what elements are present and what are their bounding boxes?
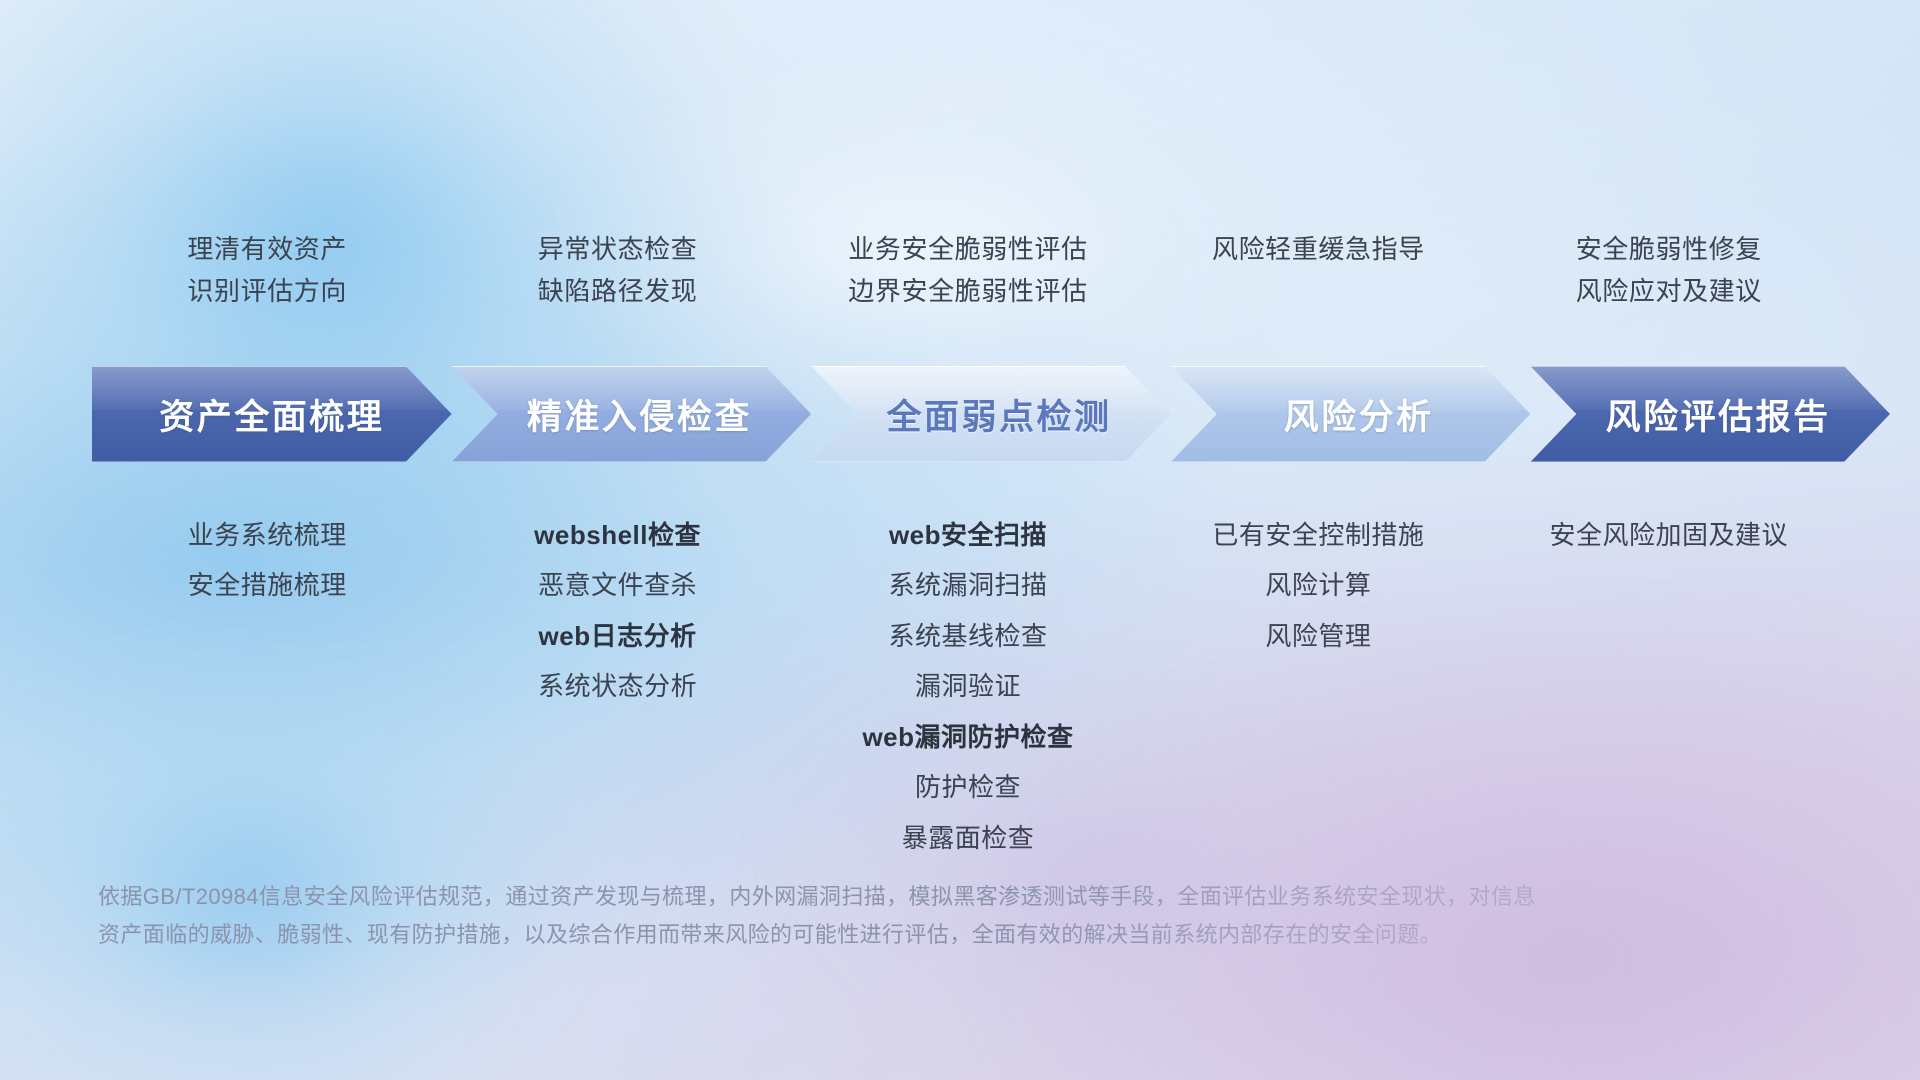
- top-note-line: 安全脆弱性修复: [1494, 228, 1844, 270]
- bottom-note-cell-risk-analysis: 已有安全控制措施风险计算风险管理: [1143, 510, 1493, 863]
- top-notes-row: 理清有效资产识别评估方向异常状态检查缺陷路径发现业务安全脆弱性评估边界安全脆弱性…: [92, 228, 1844, 312]
- top-note-line: 理清有效资产: [92, 228, 442, 270]
- process-stage-asset-inventory[interactable]: 资产全面梳理: [92, 366, 452, 462]
- footer-description: 依据GB/T20984信息安全风险评估规范，通过资产发现与梳理，内外网漏洞扫描，…: [98, 878, 1628, 954]
- process-stage-intrusion-check[interactable]: 精准入侵检查: [452, 366, 812, 462]
- bottom-notes-row: 业务系统梳理安全措施梳理webshell检查恶意文件查杀web日志分析系统状态分…: [92, 510, 1844, 863]
- bottom-note-line: 暴露面检查: [793, 813, 1143, 863]
- bottom-note-line: 风险管理: [1143, 611, 1493, 661]
- bottom-note-line: web漏洞防护检查: [793, 712, 1143, 762]
- stage-title: 风险评估报告: [1606, 389, 1831, 440]
- bottom-note-line: 防护检查: [793, 762, 1143, 812]
- bottom-note-cell-intrusion-check: webshell检查恶意文件查杀web日志分析系统状态分析: [442, 510, 792, 863]
- bottom-note-line: 系统状态分析: [442, 661, 792, 711]
- bottom-note-line: 安全风险加固及建议: [1494, 510, 1844, 560]
- top-note-cell-assessment-report: 安全脆弱性修复风险应对及建议: [1494, 228, 1844, 312]
- stage-title: 资产全面梳理: [159, 389, 384, 440]
- bottom-note-line: 安全措施梳理: [92, 560, 442, 610]
- top-note-cell-asset-inventory: 理清有效资产识别评估方向: [92, 228, 442, 312]
- stage-title: 全面弱点检测: [886, 389, 1111, 440]
- top-note-line: 边界安全脆弱性评估: [793, 270, 1143, 312]
- top-note-line: 风险应对及建议: [1494, 270, 1844, 312]
- bottom-note-line: webshell检查: [442, 510, 792, 560]
- top-note-line: 风险轻重缓急指导: [1143, 228, 1493, 270]
- bottom-note-cell-asset-inventory: 业务系统梳理安全措施梳理: [92, 510, 442, 863]
- process-stage-weakness-detection[interactable]: 全面弱点检测: [811, 366, 1171, 462]
- bottom-note-line: 风险计算: [1143, 560, 1493, 610]
- bottom-note-line: web安全扫描: [793, 510, 1143, 560]
- bottom-note-line: 系统漏洞扫描: [793, 560, 1143, 610]
- top-note-line: 业务安全脆弱性评估: [793, 228, 1143, 270]
- process-stage-assessment-report[interactable]: 风险评估报告: [1530, 366, 1890, 462]
- top-note-cell-intrusion-check: 异常状态检查缺陷路径发现: [442, 228, 792, 312]
- slide-canvas: 理清有效资产识别评估方向异常状态检查缺陷路径发现业务安全脆弱性评估边界安全脆弱性…: [0, 0, 1920, 1080]
- bottom-note-line: web日志分析: [442, 611, 792, 661]
- top-note-cell-weakness-detection: 业务安全脆弱性评估边界安全脆弱性评估: [793, 228, 1143, 312]
- top-note-line: 异常状态检查: [442, 228, 792, 270]
- process-stage-risk-analysis[interactable]: 风险分析: [1171, 366, 1531, 462]
- bottom-note-line: 漏洞验证: [793, 661, 1143, 711]
- bottom-note-line: 业务系统梳理: [92, 510, 442, 560]
- top-note-line: 识别评估方向: [92, 270, 442, 312]
- slide-content: 理清有效资产识别评估方向异常状态检查缺陷路径发现业务安全脆弱性评估边界安全脆弱性…: [0, 0, 1920, 1080]
- bottom-note-cell-assessment-report: 安全风险加固及建议: [1494, 510, 1844, 863]
- top-note-cell-risk-analysis: 风险轻重缓急指导: [1143, 228, 1493, 312]
- stage-title: 精准入侵检查: [527, 389, 752, 440]
- process-chevron-banner: 资产全面梳理精准入侵检查全面弱点检测风险分析风险评估报告: [92, 366, 1844, 462]
- bottom-note-line: 恶意文件查杀: [442, 560, 792, 610]
- bottom-note-line: 系统基线检查: [793, 611, 1143, 661]
- footer-line-2: 资产面临的威胁、脆弱性、现有防护措施，以及综合作用而带来风险的可能性进行评估，全…: [98, 916, 1628, 954]
- stage-title: 风险分析: [1284, 389, 1434, 440]
- footer-line-1: 依据GB/T20984信息安全风险评估规范，通过资产发现与梳理，内外网漏洞扫描，…: [98, 878, 1628, 916]
- bottom-note-line: 已有安全控制措施: [1143, 510, 1493, 560]
- bottom-note-cell-weakness-detection: web安全扫描系统漏洞扫描系统基线检查漏洞验证web漏洞防护检查防护检查暴露面检…: [793, 510, 1143, 863]
- top-note-line: 缺陷路径发现: [442, 270, 792, 312]
